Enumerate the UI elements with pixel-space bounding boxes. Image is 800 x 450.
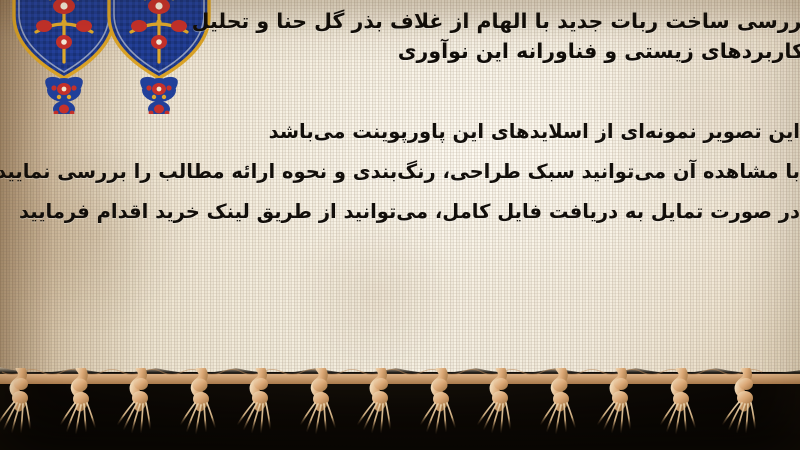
- slide-title: بررسی ساخت ربات جدید با الهام از غلاف بذ…: [0, 6, 800, 66]
- title-line-1: بررسی ساخت ربات جدید با الهام از غلاف بذ…: [0, 6, 800, 36]
- body-line-2: با مشاهده آن می‌توانید سبک طراحی، رنگ‌بن…: [0, 152, 800, 192]
- slide-body: این تصویر نمونه‌ای از اسلایدهای این پاور…: [0, 112, 800, 232]
- slide-canvas: بررسی ساخت ربات جدید با الهام از غلاف بذ…: [0, 0, 800, 450]
- title-line-2: کاربردهای زیستی و فناورانه این نوآوری: [0, 36, 800, 66]
- body-line-3: در صورت تمایل به دریافت فایل کامل، می‌تو…: [0, 192, 800, 232]
- body-line-1: این تصویر نمونه‌ای از اسلایدهای این پاور…: [0, 112, 800, 152]
- carpet-fringe-tassels: [0, 368, 800, 450]
- slide-text-block: بررسی ساخت ربات جدید با الهام از غلاف بذ…: [0, 0, 800, 381]
